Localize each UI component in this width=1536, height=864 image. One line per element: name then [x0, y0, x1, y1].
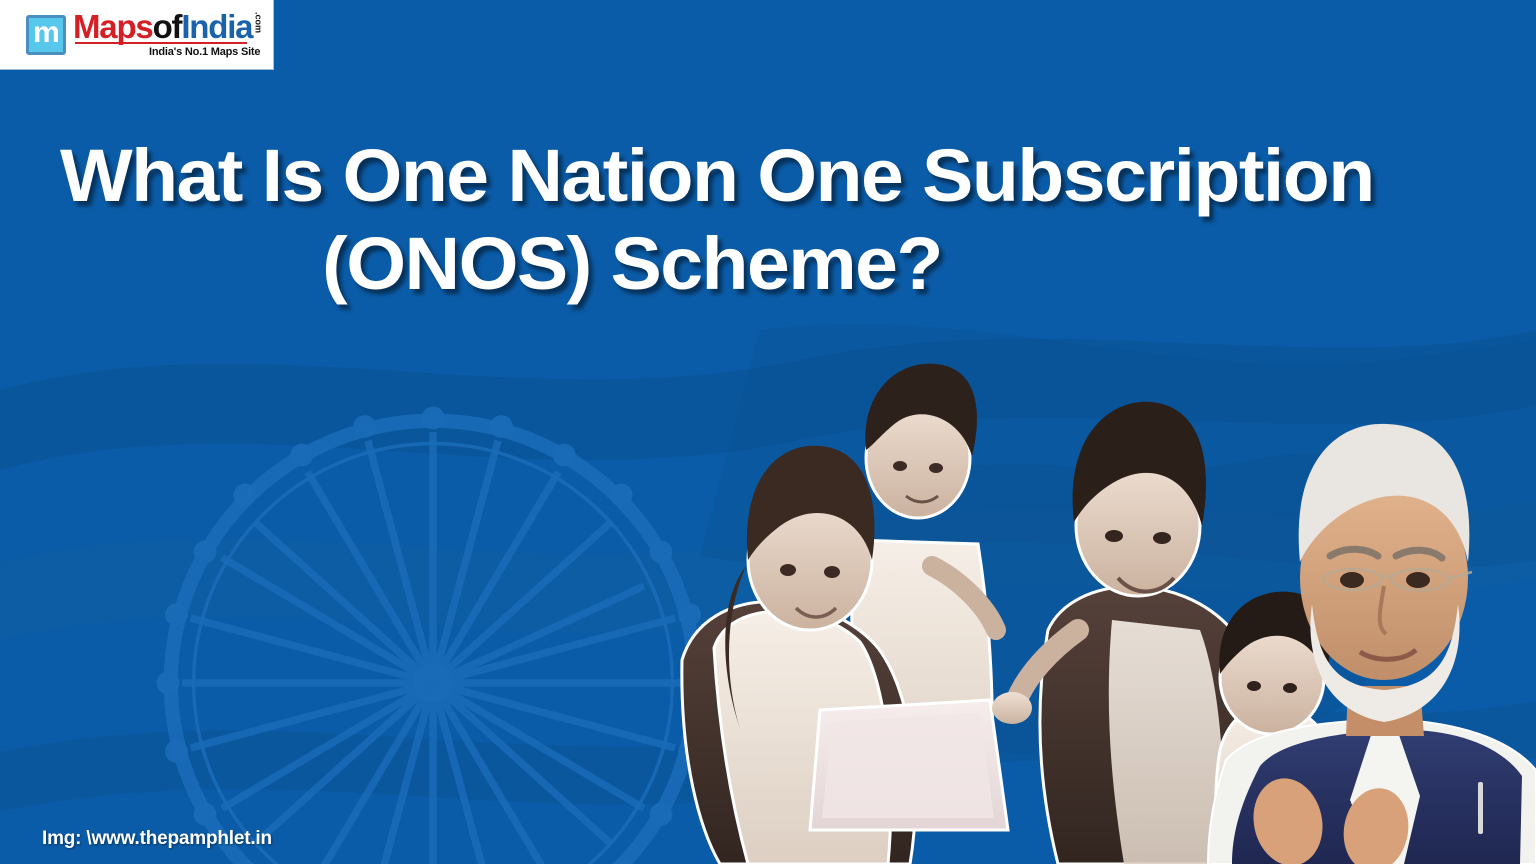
image-credit: Img: \www.thepamphlet.in — [42, 828, 272, 850]
page-title-line-1: What Is One Nation One Subscription — [60, 132, 1536, 220]
logo-word-row: Maps of India .com — [73, 11, 262, 42]
maps-of-india-m-tile-icon: m — [26, 15, 66, 55]
ashoka-chakra-icon — [148, 398, 718, 864]
logo-word-com: .com — [253, 12, 262, 33]
page-title-line-2: (ONOS) Scheme? — [60, 220, 1536, 308]
page-title: What Is One Nation One Subscription (ONO… — [60, 132, 1536, 308]
logo-wordmark: Maps of India .com India's No.1 Maps Sit… — [73, 11, 262, 57]
logo-tagline: India's No.1 Maps Site — [149, 46, 260, 58]
ashoka-chakra-watermark — [148, 398, 718, 864]
students-and-prime-minister-photo — [660, 330, 1536, 864]
mapsofindia-logo[interactable]: m Maps of India .com India's No.1 Maps S… — [0, 0, 273, 69]
logo-word-of: of — [153, 11, 182, 42]
logo-word-india: India — [181, 11, 252, 42]
logo-tile-letter: m — [33, 18, 59, 48]
logo-word-maps: Maps — [73, 11, 153, 42]
collage-artwork — [660, 330, 1536, 864]
logo-underline-rule — [75, 42, 247, 44]
laptop — [810, 700, 1008, 830]
onos-banner-image: m Maps of India .com India's No.1 Maps S… — [0, 0, 1536, 864]
